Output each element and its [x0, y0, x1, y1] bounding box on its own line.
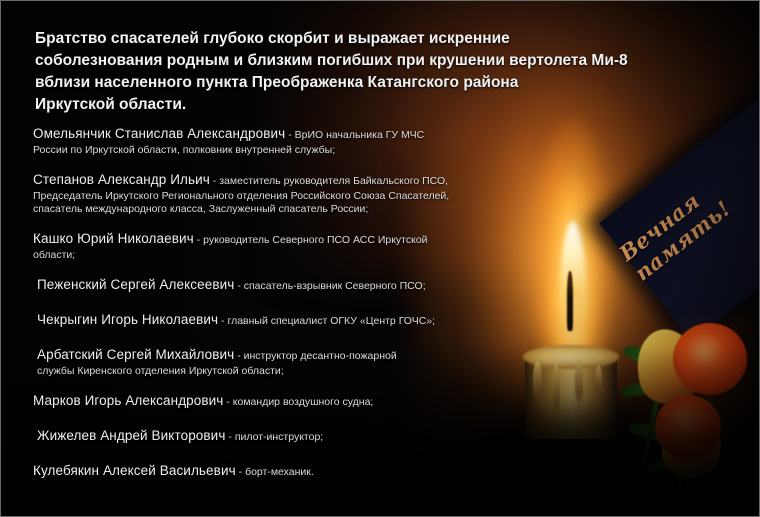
victim-role-continuation: службы Киренского отделения Иркутской об… — [37, 365, 553, 377]
victim-entry: Пеженский Сергей Алексеевич - спасатель-… — [33, 276, 553, 294]
victims-list: Омельянчик Станислав Александрович - ВрИ… — [33, 125, 553, 489]
victim-dash: - — [234, 350, 243, 362]
victim-dash: - — [194, 234, 203, 246]
headline-line-1: Братство спасателей глубоко скорбит и вы… — [35, 28, 725, 50]
victim-entry: Кулебякин Алексей Васильевич - борт-меха… — [33, 462, 553, 480]
victim-role: спасатель-взрывник Северного ПСО; — [244, 280, 426, 292]
victim-name: Пеженский Сергей Алексеевич — [37, 277, 234, 292]
victim-entry: Кашко Юрий Николаевич - руководитель Сев… — [33, 230, 553, 261]
victim-role-continuation: Председатель Иркутского Регионального от… — [33, 190, 553, 202]
victim-role-continuation: России по Иркутской области, полковник в… — [33, 144, 553, 156]
victim-name: Арбатский Сергей Михайлович — [37, 347, 234, 362]
victim-entry: Степанов Александр Ильич - заместитель р… — [33, 171, 553, 215]
victim-role: руководитель Северного ПСО АСС Иркутской — [203, 234, 427, 246]
victim-name: Марков Игорь Александрович — [33, 393, 223, 408]
headline-line-3: вблизи населенного пункта Преображенка К… — [35, 72, 725, 94]
victim-dash: - — [223, 396, 232, 408]
condolence-headline: Братство спасателей глубоко скорбит и вы… — [35, 28, 725, 116]
victim-entry: Жижелев Андрей Викторович - пилот-инстру… — [33, 427, 553, 445]
victim-role: пилот-инструктор; — [235, 431, 323, 443]
victim-entry: Омельянчик Станислав Александрович - ВрИ… — [33, 125, 553, 156]
victim-entry: Арбатский Сергей Михайлович - инструктор… — [33, 346, 553, 377]
headline-line-2: соболезнования родным и близким погибших… — [35, 50, 725, 72]
victim-role: инструктор десантно-пожарной — [244, 350, 397, 362]
victim-dash: - — [225, 431, 234, 443]
victim-dash: - — [285, 129, 294, 141]
headline-line-4: Иркутской области. — [35, 94, 725, 116]
victim-role-continuation-2: спасатель международного класса, Заслуже… — [33, 203, 553, 215]
victim-role: командир воздушного судна; — [233, 396, 374, 408]
victim-role-continuation: области; — [33, 249, 553, 261]
victim-dash: - — [236, 466, 245, 478]
victim-dash: - — [234, 280, 243, 292]
victim-role: заместитель руководителя Байкальского ПС… — [219, 175, 448, 187]
victim-entry: Чекрыгин Игорь Николаевич - главный спец… — [33, 311, 553, 329]
victim-role: борт-механик. — [245, 466, 314, 478]
victim-role: ВрИО начальника ГУ МЧС — [295, 129, 425, 141]
victim-entry: Марков Игорь Александрович - командир во… — [33, 392, 553, 410]
victim-name: Степанов Александр Ильич — [33, 172, 210, 187]
victim-name: Чекрыгин Игорь Николаевич — [37, 312, 218, 327]
victim-name: Кашко Юрий Николаевич — [33, 231, 194, 246]
victim-role: главный специалист ОГКУ «Центр ГОЧС»; — [227, 315, 435, 327]
victim-name: Омельянчик Станислав Александрович — [33, 126, 285, 141]
victim-name: Кулебякин Алексей Васильевич — [33, 463, 236, 478]
victim-dash: - — [210, 175, 219, 187]
victim-name: Жижелев Андрей Викторович — [37, 428, 225, 443]
memorial-card: Вечная память! Братство спасателей глубо… — [0, 0, 760, 517]
